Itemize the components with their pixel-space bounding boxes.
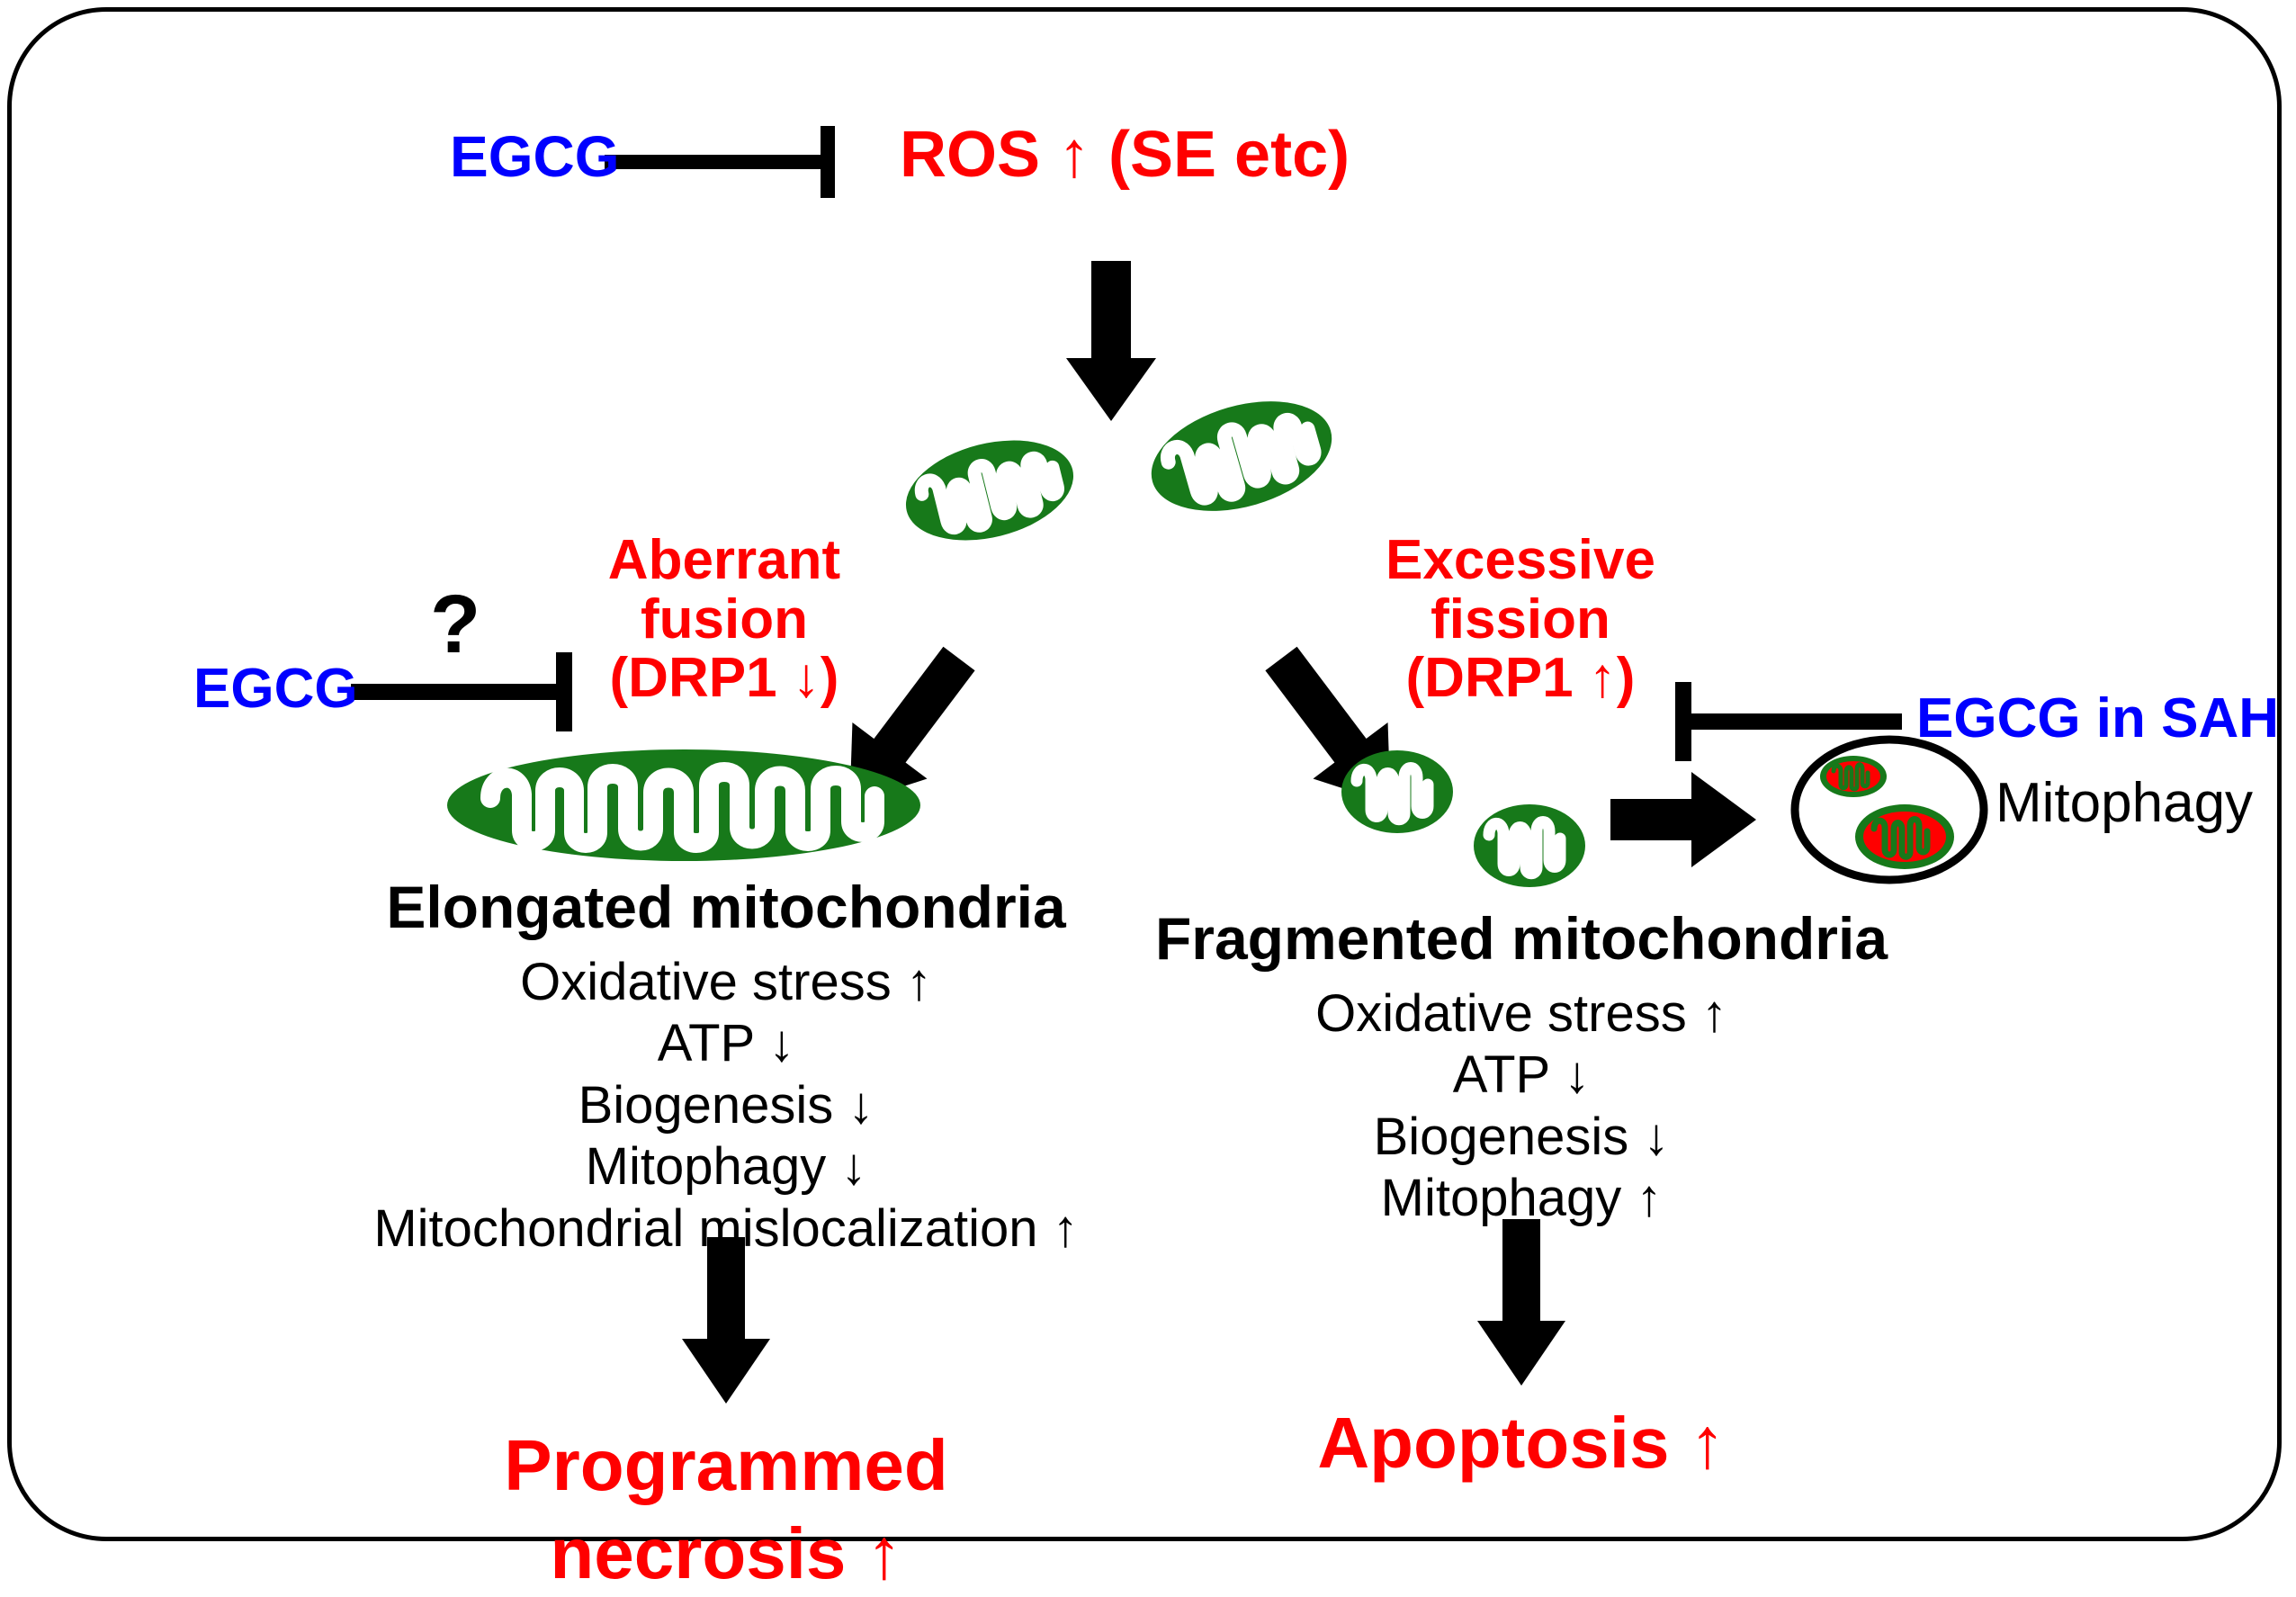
fragmented-mitochondria-heading: Fragmented mitochondria xyxy=(1155,909,1888,968)
mitochondrion-fragment-2-icon xyxy=(1474,804,1585,887)
mitophagy-label: Mitophagy xyxy=(1996,776,2253,831)
elongated-effect-0: Oxidative stress ↑ xyxy=(373,952,1078,1013)
elongated-mitochondria-heading: Elongated mitochondria xyxy=(386,877,1065,937)
egcg-label-left: EGCG xyxy=(193,661,358,717)
programmed-necrosis-label: Programmed necrosis ↑ xyxy=(504,1422,947,1597)
fragmented-effect-0: Oxidative stress ↑ xyxy=(1315,983,1727,1045)
egcg-label-top: EGCG xyxy=(450,128,619,185)
aberrant-fusion-label: Aberrant fusion (DRP1 ↓) xyxy=(608,531,840,708)
apoptosis-line1: Apoptosis ↑ xyxy=(1317,1405,1725,1482)
mitochondrion-fragment-1-icon xyxy=(1341,750,1453,833)
elongated-effect-1: ATP ↓ xyxy=(373,1013,1078,1074)
fragmented-effect-1: ATP ↓ xyxy=(1315,1045,1727,1106)
programmed-necrosis-line1: Programmed xyxy=(504,1422,947,1510)
excessive-fission-line1: Excessive xyxy=(1386,531,1655,590)
fragmented-effects-list: Oxidative stress ↑ ATP ↓ Biogenesis ↓ Mi… xyxy=(1315,983,1727,1230)
elongated-effect-3: Mitophagy ↓ xyxy=(373,1136,1078,1198)
question-mark-left: ? xyxy=(430,583,480,666)
programmed-necrosis-line2: necrosis ↑ xyxy=(504,1510,947,1597)
aberrant-fusion-line2: fusion xyxy=(608,590,840,650)
aberrant-fusion-line1: Aberrant xyxy=(608,531,840,590)
elongated-effect-2: Biogenesis ↓ xyxy=(373,1075,1078,1136)
egcg-in-sah-label: EGCG in SAH xyxy=(1916,691,2279,747)
excessive-fission-line2: fission xyxy=(1386,590,1655,650)
figure-canvas: EGCG ROS ↑ (SE etc) EGCG ? Aberrant fusi… xyxy=(0,0,2296,1556)
excessive-fission-line3: (DRP1 ↑) xyxy=(1386,649,1655,708)
ros-label: ROS ↑ (SE etc) xyxy=(900,122,1350,187)
elongated-effect-4: Mitochondrial mislocalization ↑ xyxy=(373,1198,1078,1260)
fragmented-effect-2: Biogenesis ↓ xyxy=(1315,1107,1727,1168)
apoptosis-label: Apoptosis ↑ xyxy=(1317,1405,1725,1482)
aberrant-fusion-line3: (DRP1 ↓) xyxy=(608,649,840,708)
mitochondrion-elongated-icon xyxy=(447,749,920,861)
elongated-effects-list: Oxidative stress ↑ ATP ↓ Biogenesis ↓ Mi… xyxy=(373,952,1078,1260)
excessive-fission-label: Excessive fission (DRP1 ↑) xyxy=(1386,531,1655,708)
fragmented-effect-3: Mitophagy ↑ xyxy=(1315,1168,1727,1229)
autophagosome-icon xyxy=(1795,740,1984,880)
